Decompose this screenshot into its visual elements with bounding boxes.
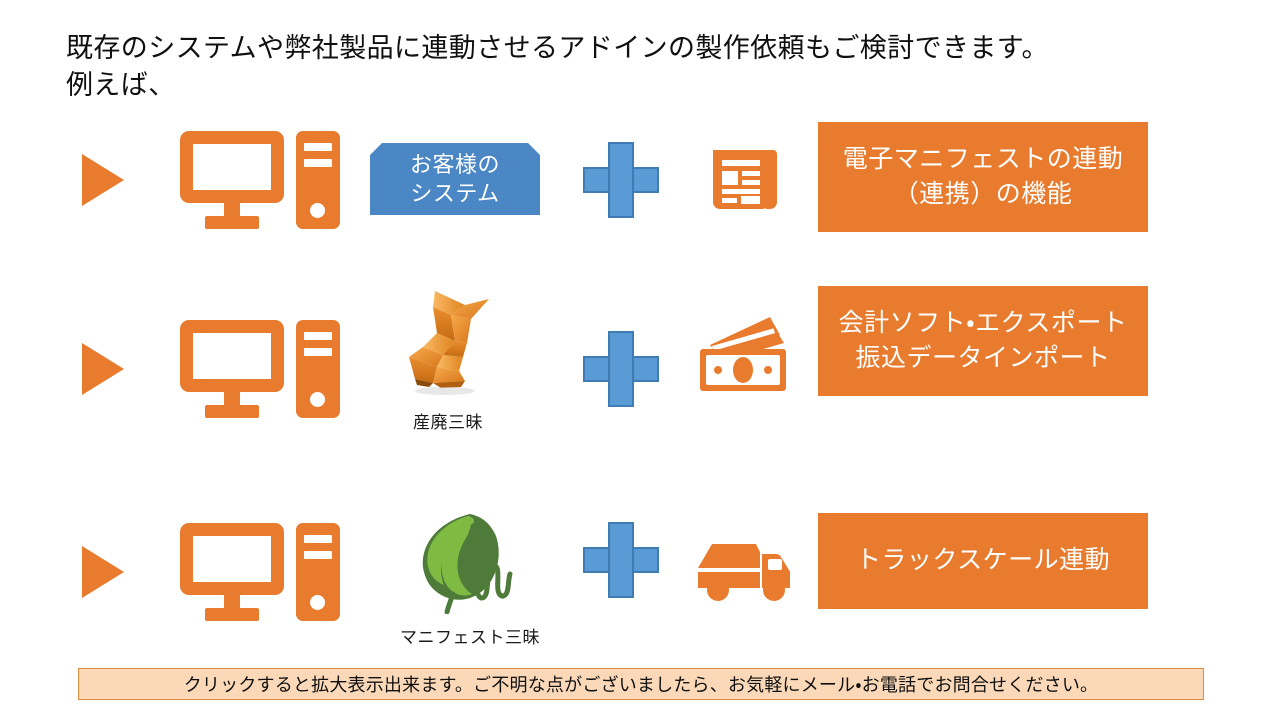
power-button-icon xyxy=(310,595,325,610)
play-triangle-icon xyxy=(82,154,124,206)
monitor-base xyxy=(205,405,259,418)
customer-system-label[interactable]: お客様の システム xyxy=(370,143,540,215)
monitor-neck xyxy=(224,595,240,608)
page-title: 既存のシステムや弊社製品に連動させるアドインの製作依頼もご検討できます。 例えば… xyxy=(66,30,1186,103)
drive-slot-icon xyxy=(304,348,332,356)
plus-icon xyxy=(583,142,659,218)
drive-slot-icon xyxy=(304,551,332,559)
slide-canvas: 既存のシステムや弊社製品に連動させるアドインの製作依頼もご検討できます。 例えば… xyxy=(0,0,1280,720)
drive-slot-icon xyxy=(304,535,332,543)
result-box[interactable]: 会計ソフト・エクスポート 振込データインポート xyxy=(818,286,1148,396)
green-leaf-logo xyxy=(410,508,530,614)
monitor-screen xyxy=(180,523,284,595)
product-label: マニフェスト三昧 xyxy=(372,623,568,648)
result-box[interactable]: トラックスケール連動 xyxy=(818,513,1148,609)
plus-icon xyxy=(583,331,659,407)
example-row-3: マニフェスト三昧 トラックスケール連動 xyxy=(0,490,1280,650)
monitor-base xyxy=(205,608,259,621)
origami-swan-logo xyxy=(393,281,503,399)
example-row-2: 産廃三昧 会計ソフト・エクスポート 振込データインポート xyxy=(0,265,1280,425)
money-banknotes-icon xyxy=(692,313,796,402)
pc-tower xyxy=(296,523,340,621)
desktop-computer-icon xyxy=(180,523,340,623)
play-triangle-icon xyxy=(82,546,124,598)
power-button-icon xyxy=(310,203,325,218)
monitor-neck xyxy=(224,203,240,216)
pc-tower xyxy=(296,131,340,229)
monitor-screen xyxy=(180,320,284,392)
plus-icon xyxy=(583,522,659,598)
info-banner-text: クリックすると拡大表示出来ます。ご不明な点がございましたら、お気軽にメール・お電… xyxy=(184,671,1099,697)
example-row-1: お客様の システム 電子マニフェストの連動 （連携）の機能 xyxy=(0,100,1280,260)
manifest-zanmai-logo-block[interactable]: マニフェスト三昧 xyxy=(372,508,568,648)
pc-tower xyxy=(296,320,340,418)
info-banner[interactable]: クリックすると拡大表示出来ます。ご不明な点がございましたら、お気軽にメール・お電… xyxy=(78,668,1204,700)
product-label: 産廃三昧 xyxy=(378,408,518,433)
monitor-neck xyxy=(224,392,240,405)
power-button-icon xyxy=(310,392,325,407)
newspaper-icon xyxy=(700,138,784,227)
result-box[interactable]: 電子マニフェストの連動 （連携）の機能 xyxy=(818,122,1148,232)
monitor-base xyxy=(205,216,259,229)
drive-slot-icon xyxy=(304,143,332,151)
play-triangle-icon xyxy=(82,343,124,395)
dump-truck-icon xyxy=(690,530,798,611)
drive-slot-icon xyxy=(304,159,332,167)
desktop-computer-icon xyxy=(180,320,340,420)
monitor-screen xyxy=(180,131,284,203)
drive-slot-icon xyxy=(304,332,332,340)
sanpai-zanmai-logo-block[interactable]: 産廃三昧 xyxy=(378,281,518,433)
desktop-computer-icon xyxy=(180,131,340,231)
